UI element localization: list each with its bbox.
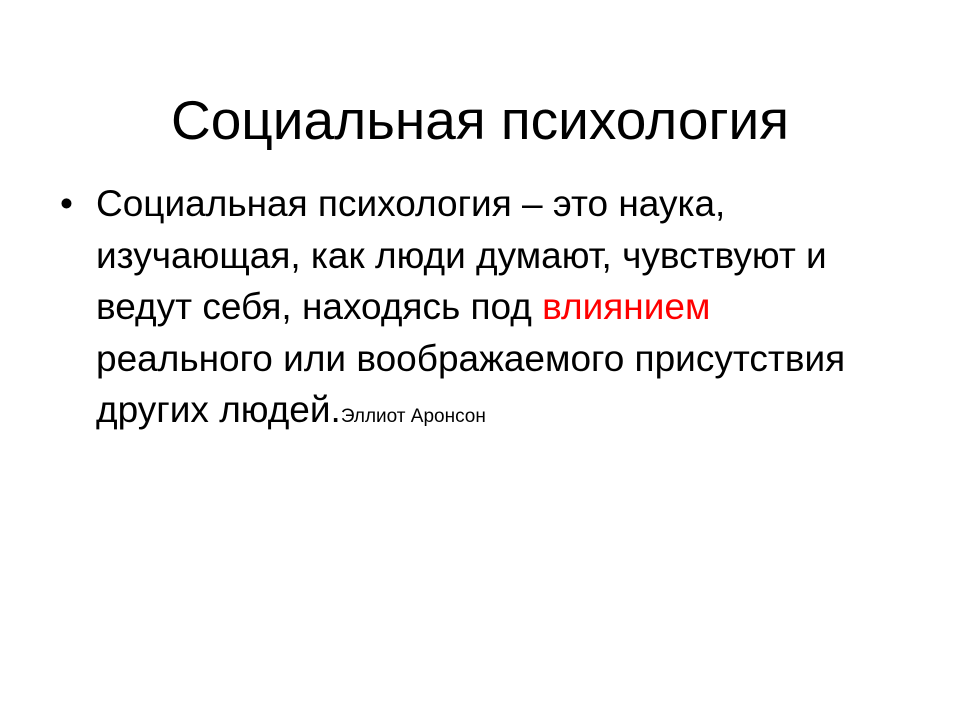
bullet-segment-highlight: влиянием xyxy=(542,286,710,327)
page-title: Социальная психология xyxy=(60,89,900,151)
bullet-segment-plain-lead: Социальная психология – это наука, изуча… xyxy=(96,183,827,327)
bullet-dot-icon: • xyxy=(60,178,90,230)
slide-canvas: Социальная психология • Социальная психо… xyxy=(0,0,960,720)
list-item: • Социальная психология – это наука, изу… xyxy=(52,178,882,443)
slide-body: • Социальная психология – это наука, изу… xyxy=(52,178,882,443)
bullet-text: Социальная психология – это наука, изуча… xyxy=(96,183,845,430)
quote-attribution: Эллиот Аронсон xyxy=(341,406,486,427)
